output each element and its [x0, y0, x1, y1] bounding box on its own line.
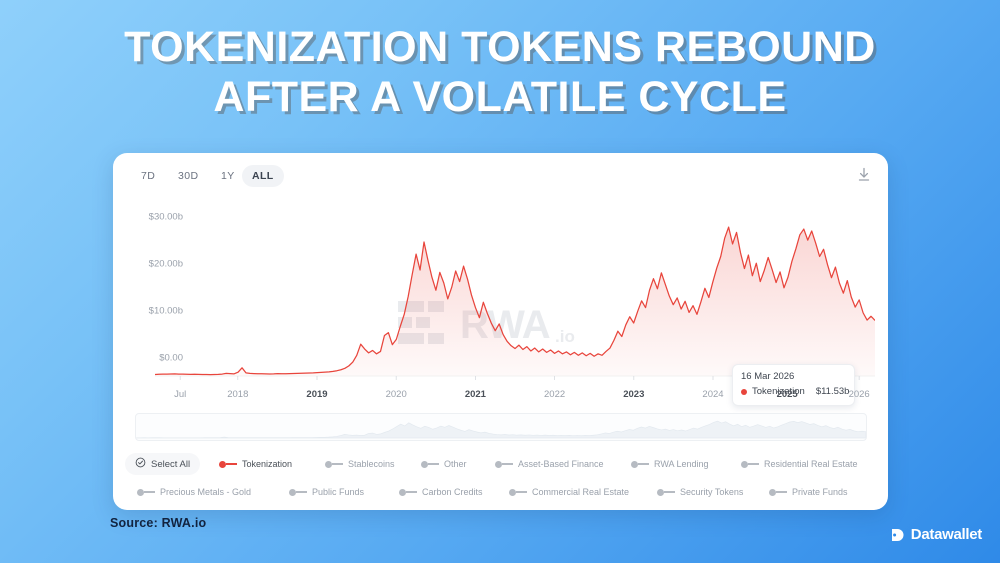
legend-item-label: RWA Lending — [654, 459, 709, 469]
legend-item-label: Residential Real Estate — [764, 459, 858, 469]
x-tick-label-2024: 2024 — [702, 389, 723, 400]
legend-row-1: Select All TokenizationStablecoinsOtherA… — [125, 453, 881, 475]
x-tick-label-jul: Jul — [174, 389, 186, 400]
legend-item-residential-real-estate[interactable]: Residential Real Estate — [741, 453, 858, 475]
x-tick-label-2022: 2022 — [544, 389, 565, 400]
legend-item-label: Other — [444, 459, 467, 469]
legend-swatch-icon — [421, 461, 439, 468]
legend-swatch-icon — [509, 489, 527, 496]
legend-select-all-label: Select All — [151, 459, 190, 470]
series-legend: Select All TokenizationStablecoinsOtherA… — [113, 453, 888, 509]
chart-card: 7D 30D 1Y ALL $30.00b $20.00b $10.00b $0… — [113, 153, 888, 510]
download-icon[interactable] — [854, 165, 874, 185]
legend-swatch-icon — [137, 489, 155, 496]
legend-item-label: Precious Metals - Gold — [160, 487, 251, 497]
chart-toolbar: 7D 30D 1Y ALL — [113, 153, 888, 199]
tokenization-area-chart — [155, 199, 875, 389]
tooltip-date: 16 Mar 2026 — [741, 371, 846, 382]
legend-select-all-button[interactable]: Select All — [125, 453, 200, 475]
brand-name: Datawallet — [911, 526, 982, 543]
legend-swatch-icon — [495, 461, 513, 468]
legend-item-label: Private Funds — [792, 487, 848, 497]
x-tick-label-2021: 2021 — [465, 389, 486, 400]
check-circle-icon — [135, 455, 146, 473]
legend-item-label: Public Funds — [312, 487, 364, 497]
range-button-1y[interactable]: 1Y — [211, 165, 245, 187]
legend-item-label: Commercial Real Estate — [532, 487, 629, 497]
legend-swatch-icon — [769, 489, 787, 496]
plot-area: $30.00b $20.00b $10.00b $0.00 RWA .io — [113, 199, 888, 389]
legend-item-label: Asset-Based Finance — [518, 459, 604, 469]
datawallet-logo: Datawallet — [889, 526, 982, 543]
range-button-all[interactable]: ALL — [242, 165, 284, 187]
legend-swatch-icon — [219, 461, 237, 468]
legend-swatch-icon — [289, 489, 307, 496]
legend-item-label: Security Tokens — [680, 487, 743, 497]
legend-item-rwa-lending[interactable]: RWA Lending — [631, 453, 709, 475]
legend-item-label: Stablecoins — [348, 459, 395, 469]
range-button-7d[interactable]: 7D — [131, 165, 165, 187]
legend-item-private-funds[interactable]: Private Funds — [769, 481, 848, 503]
legend-swatch-icon — [399, 489, 417, 496]
legend-item-security-tokens[interactable]: Security Tokens — [657, 481, 743, 503]
x-axis-labels: Jul201820192020202120222023202420252026 — [113, 389, 888, 407]
legend-item-public-funds[interactable]: Public Funds — [289, 481, 364, 503]
legend-item-carbon-credits[interactable]: Carbon Credits — [399, 481, 483, 503]
page-title: TOKENIZATION TOKENS REBOUND AFTER A VOLA… — [0, 22, 1000, 122]
legend-item-precious-metals-gold[interactable]: Precious Metals - Gold — [137, 481, 251, 503]
x-tick-label-2023: 2023 — [623, 389, 644, 400]
range-button-30d[interactable]: 30D — [168, 165, 208, 187]
x-tick-label-2026: 2026 — [849, 389, 870, 400]
legend-swatch-icon — [325, 461, 343, 468]
legend-item-stablecoins[interactable]: Stablecoins — [325, 453, 395, 475]
range-brush-slider[interactable] — [135, 413, 867, 441]
x-tick-label-2020: 2020 — [386, 389, 407, 400]
legend-item-label: Tokenization — [242, 459, 292, 469]
legend-swatch-icon — [631, 461, 649, 468]
title-line-1: TOKENIZATION TOKENS REBOUND — [0, 22, 1000, 72]
x-tick-label-2025: 2025 — [777, 389, 798, 400]
legend-row-2: Precious Metals - GoldPublic FundsCarbon… — [125, 481, 881, 503]
legend-swatch-icon — [741, 461, 759, 468]
legend-item-label: Carbon Credits — [422, 487, 483, 497]
chart-area-fill — [155, 227, 875, 376]
droplet-logo-icon — [889, 527, 905, 543]
x-tick-label-2019: 2019 — [306, 389, 327, 400]
source-attribution: Source: RWA.io — [110, 516, 206, 530]
legend-item-asset-based-finance[interactable]: Asset-Based Finance — [495, 453, 604, 475]
x-tick-label-2018: 2018 — [227, 389, 248, 400]
legend-item-commercial-real-estate[interactable]: Commercial Real Estate — [509, 481, 629, 503]
legend-item-other[interactable]: Other — [421, 453, 467, 475]
legend-swatch-icon — [657, 489, 675, 496]
title-line-2: AFTER A VOLATILE CYCLE — [0, 72, 1000, 122]
legend-item-tokenization[interactable]: Tokenization — [219, 453, 292, 475]
